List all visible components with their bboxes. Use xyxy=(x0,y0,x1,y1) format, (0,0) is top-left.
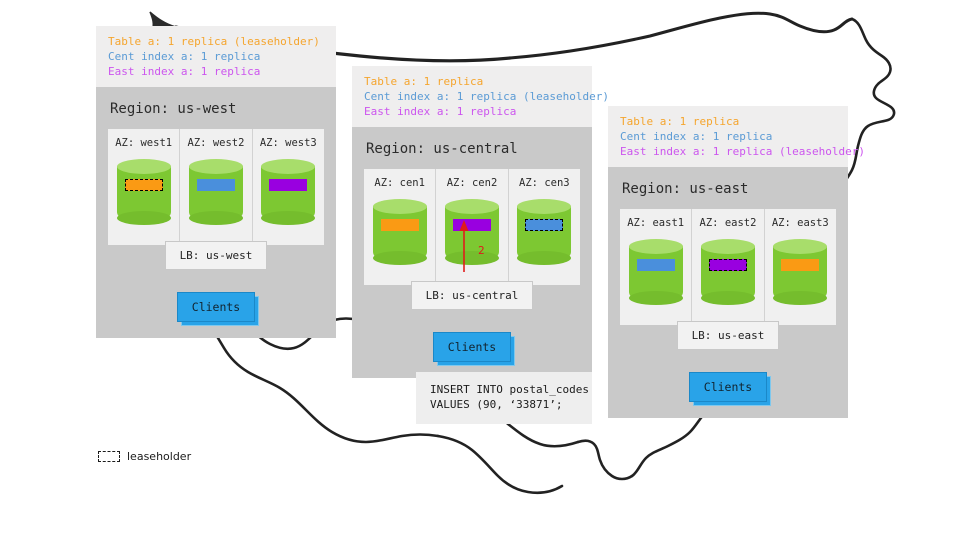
replica-line-cent-index: Cent index a: 1 replica xyxy=(620,129,838,144)
cylinder-top xyxy=(189,159,243,174)
diagram-canvas: Table a: 1 replica (leaseholder) Cent in… xyxy=(0,0,960,540)
replica-summary-us-east: Table a: 1 replica Cent index a: 1 repli… xyxy=(608,106,848,167)
az-row: AZ: cen1 AZ: cen2 AZ: xyxy=(364,169,580,285)
cylinder-top xyxy=(773,239,827,254)
region-panel-us-central: Table a: 1 replica Cent index a: 1 repli… xyxy=(352,66,592,378)
clients-card[interactable]: Clients xyxy=(689,372,767,402)
step-number-2: 2 xyxy=(478,244,485,257)
region-title: Region: us-east xyxy=(622,181,836,197)
replica-summary-us-west: Table a: 1 replica (leaseholder) Cent in… xyxy=(96,26,336,87)
node-cylinder-east3[interactable] xyxy=(773,239,827,311)
clients-stack-us-east[interactable]: Clients xyxy=(689,372,767,402)
cylinder-top xyxy=(373,199,427,214)
node-cylinder-west3[interactable] xyxy=(261,159,315,231)
replica-bar-cent-index-leaseholder xyxy=(525,219,563,231)
az-label: AZ: cen1 xyxy=(374,177,425,189)
region-title: Region: us-west xyxy=(110,101,324,117)
cylinder-body xyxy=(629,246,683,304)
node-cylinder-east2[interactable] xyxy=(701,239,755,311)
cylinder-top xyxy=(517,199,571,214)
az-row: AZ: west1 AZ: west2 AZ xyxy=(108,129,324,245)
cylinder-top xyxy=(117,159,171,174)
node-cylinder-east1[interactable] xyxy=(629,239,683,311)
az-cell-west3[interactable]: AZ: west3 xyxy=(252,129,324,245)
sql-statement-note: INSERT INTO postal_codes VALUES (90, ‘33… xyxy=(416,372,592,424)
cylinder-body xyxy=(517,206,571,264)
cylinder-body xyxy=(189,166,243,224)
az-cell-cen2[interactable]: AZ: cen2 xyxy=(435,169,507,285)
replica-bar-cent-index xyxy=(637,259,675,271)
az-cell-west1[interactable]: AZ: west1 xyxy=(108,129,179,245)
replica-line-east-index: East index a: 1 replica xyxy=(108,64,326,79)
replica-bar-cent-index xyxy=(197,179,235,191)
legend: leaseholder xyxy=(98,450,191,463)
cylinder-top xyxy=(701,239,755,254)
clients-stack-us-central[interactable]: Clients xyxy=(433,332,511,362)
cylinder-body xyxy=(117,166,171,224)
az-cell-east3[interactable]: AZ: east3 xyxy=(764,209,836,325)
node-cylinder-cen2[interactable] xyxy=(445,199,499,271)
az-label: AZ: west1 xyxy=(115,137,172,149)
load-balancer-us-central[interactable]: LB: us-central xyxy=(411,281,534,310)
replica-line-cent-index: Cent index a: 1 replica xyxy=(108,49,326,64)
node-cylinder-west2[interactable] xyxy=(189,159,243,231)
region-title: Region: us-central xyxy=(366,141,580,157)
cylinder-body xyxy=(773,246,827,304)
replica-line-east-index: East index a: 1 replica xyxy=(364,104,582,119)
az-label: AZ: east3 xyxy=(772,217,829,229)
cylinder-body xyxy=(701,246,755,304)
az-label: AZ: cen2 xyxy=(447,177,498,189)
replica-summary-us-central: Table a: 1 replica Cent index a: 1 repli… xyxy=(352,66,592,127)
replica-line-cent-index: Cent index a: 1 replica (leaseholder) xyxy=(364,89,582,104)
replica-line-table: Table a: 1 replica (leaseholder) xyxy=(108,34,326,49)
load-balancer-us-west[interactable]: LB: us-west xyxy=(165,241,268,270)
clients-card[interactable]: Clients xyxy=(177,292,255,322)
cylinder-top xyxy=(261,159,315,174)
cylinder-body xyxy=(445,206,499,264)
region-body-us-east: Region: us-east AZ: east1 AZ: east2 xyxy=(608,167,848,418)
replica-bar-table xyxy=(781,259,819,271)
replica-line-east-index: East index a: 1 replica (leaseholder) xyxy=(620,144,838,159)
replica-bar-east-index xyxy=(269,179,307,191)
az-cell-east2[interactable]: AZ: east2 xyxy=(691,209,763,325)
az-cell-cen3[interactable]: AZ: cen3 xyxy=(508,169,580,285)
clients-stack-us-west[interactable]: Clients xyxy=(177,292,255,322)
az-label: AZ: west3 xyxy=(260,137,317,149)
az-label: AZ: cen3 xyxy=(519,177,570,189)
leaseholder-swatch-icon xyxy=(98,451,120,462)
az-label: AZ: east2 xyxy=(700,217,757,229)
replica-line-table: Table a: 1 replica xyxy=(620,114,838,129)
load-balancer-us-east[interactable]: LB: us-east xyxy=(677,321,780,350)
az-cell-east1[interactable]: AZ: east1 xyxy=(620,209,691,325)
cylinder-body xyxy=(261,166,315,224)
cylinder-body xyxy=(373,206,427,264)
replica-bar-east-index-leaseholder xyxy=(709,259,747,271)
node-cylinder-cen1[interactable] xyxy=(373,199,427,271)
node-cylinder-west1[interactable] xyxy=(117,159,171,231)
region-body-us-west: Region: us-west AZ: west1 AZ: west2 xyxy=(96,87,336,338)
az-label: AZ: west2 xyxy=(188,137,245,149)
az-cell-west2[interactable]: AZ: west2 xyxy=(179,129,251,245)
cylinder-top xyxy=(629,239,683,254)
az-row: AZ: east1 AZ: east2 AZ xyxy=(620,209,836,325)
region-panel-us-east: Table a: 1 replica Cent index a: 1 repli… xyxy=(608,106,848,418)
cylinder-top xyxy=(445,199,499,214)
replica-bar-table xyxy=(381,219,419,231)
clients-card[interactable]: Clients xyxy=(433,332,511,362)
legend-label: leaseholder xyxy=(127,450,191,463)
az-cell-cen1[interactable]: AZ: cen1 xyxy=(364,169,435,285)
replica-line-table: Table a: 1 replica xyxy=(364,74,582,89)
az-label: AZ: east1 xyxy=(627,217,684,229)
region-body-us-central: Region: us-central AZ: cen1 AZ: cen2 xyxy=(352,127,592,378)
region-panel-us-west: Table a: 1 replica (leaseholder) Cent in… xyxy=(96,26,336,338)
node-cylinder-cen3[interactable] xyxy=(517,199,571,271)
replica-bar-table-leaseholder xyxy=(125,179,163,191)
replica-bar-east-index xyxy=(453,219,491,231)
